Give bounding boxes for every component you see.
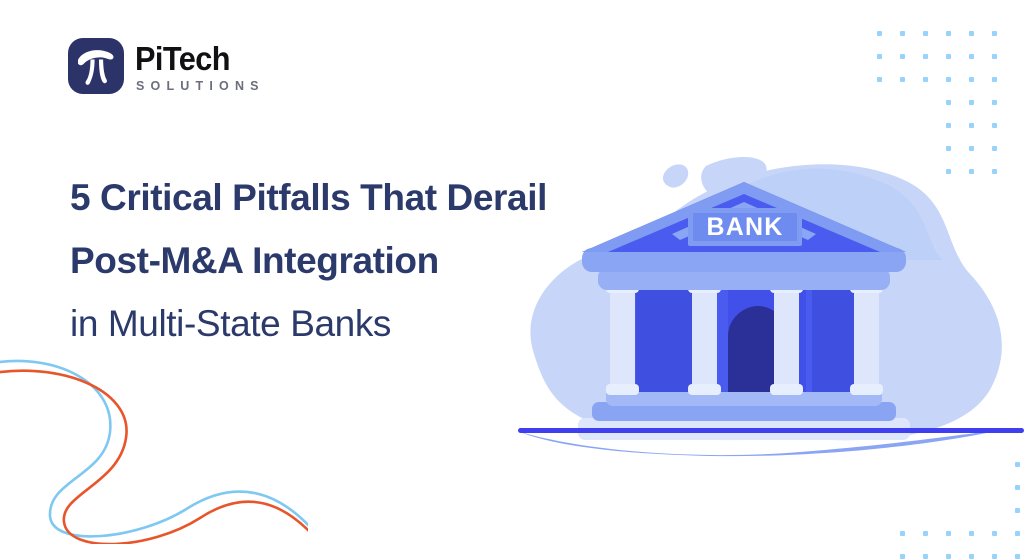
bank-building-illustration: BANK [500, 140, 1024, 460]
grid-dot [992, 54, 997, 59]
grid-dot [900, 531, 905, 536]
grid-dot [923, 54, 928, 59]
pitech-monogram-icon [68, 38, 124, 94]
grid-dot [969, 123, 974, 128]
grid-dot [969, 54, 974, 59]
logo-wordmark-group: PiTech SOLUTIONS [135, 40, 265, 93]
grid-dot [900, 554, 905, 559]
column-3 [770, 282, 803, 395]
grid-dot [992, 77, 997, 82]
grid-dot [969, 100, 974, 105]
logo-tagline: SOLUTIONS [136, 80, 265, 93]
banner-canvas: PiTech SOLUTIONS 5 Critical Pitfalls Tha… [0, 0, 1024, 538]
recess-bay-left [636, 288, 692, 392]
floating-blob-small [663, 164, 688, 187]
grid-dot [946, 54, 951, 59]
grid-dot [877, 77, 882, 82]
dot-grid-bottom-right [900, 462, 1024, 538]
grid-dot [1015, 531, 1020, 536]
grid-dot [1015, 554, 1020, 559]
ground-line [518, 428, 1024, 433]
grid-dot [923, 531, 928, 536]
column-2 [688, 282, 721, 395]
grid-dot [969, 31, 974, 36]
grid-dot [946, 77, 951, 82]
grid-dot [992, 554, 997, 559]
grid-dot [992, 100, 997, 105]
brand-logo[interactable]: PiTech SOLUTIONS [68, 38, 265, 94]
grid-dot [946, 31, 951, 36]
grid-dot [900, 31, 905, 36]
grid-dot [969, 554, 974, 559]
grid-dot [900, 77, 905, 82]
grid-dot [992, 123, 997, 128]
grid-dot [969, 77, 974, 82]
grid-dot [969, 531, 974, 536]
grid-dot [946, 554, 951, 559]
grid-dot [1015, 508, 1020, 513]
grid-dot [923, 31, 928, 36]
column-1 [606, 282, 639, 395]
grid-dot [923, 554, 928, 559]
bank-sign-label: BANK [706, 213, 783, 241]
grid-dot [992, 531, 997, 536]
grid-dot [877, 31, 882, 36]
grid-dot [992, 31, 997, 36]
grid-dot [1015, 485, 1020, 490]
logo-wordmark: PiTech [135, 42, 256, 75]
grid-dot [946, 531, 951, 536]
grid-dot [923, 77, 928, 82]
column-4 [850, 282, 883, 395]
wave-line-blue [0, 361, 308, 536]
grid-dot [1015, 462, 1020, 467]
grid-dot [946, 123, 951, 128]
grid-dot [877, 54, 882, 59]
wave-line-orange [0, 371, 308, 544]
grid-dot [946, 100, 951, 105]
grid-dot [900, 54, 905, 59]
